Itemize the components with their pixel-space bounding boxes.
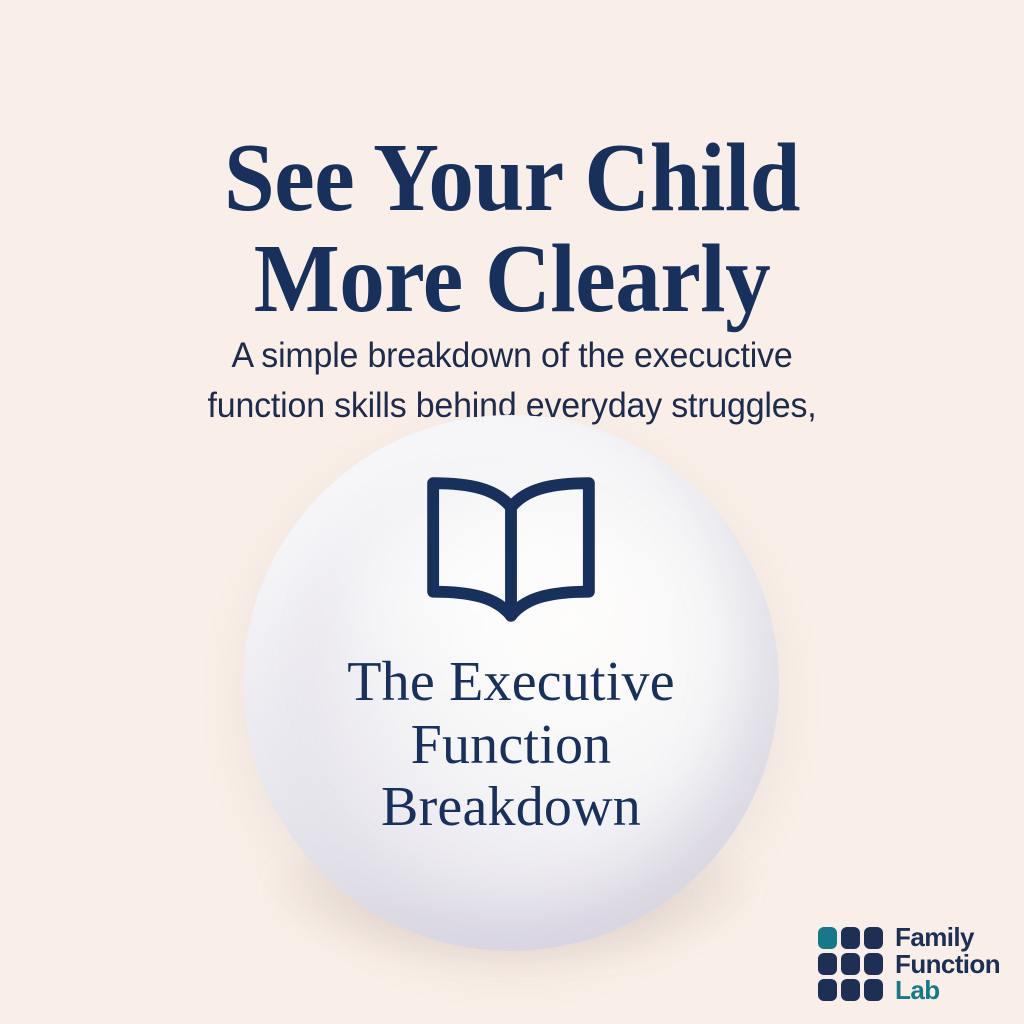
sphere-badge: The Executive Function Breakdown	[243, 415, 779, 951]
sphere-content: The Executive Function Breakdown	[243, 415, 779, 951]
page-title: See Your Child More Clearly	[36, 128, 988, 330]
logo-grid-icon	[818, 927, 883, 1001]
sphere-title: The Executive Function Breakdown	[347, 651, 675, 839]
headline-line-2: More Clearly	[36, 229, 988, 330]
logo-cell-1	[818, 927, 837, 949]
headline-line-1: See Your Child	[36, 128, 988, 229]
logo-cell-7	[818, 979, 837, 1001]
logo-cell-2	[841, 927, 860, 949]
logo-wordmark: Family Function Lab	[895, 924, 1000, 1004]
logo-cell-3	[864, 927, 883, 949]
logo-cell-4	[818, 953, 837, 975]
logo-line-lab: Lab	[895, 977, 1000, 1004]
sphere-title-line-2: Function	[347, 714, 675, 777]
logo-line-family: Family	[895, 924, 1000, 951]
logo-cell-9	[864, 979, 883, 1001]
logo-cell-6	[864, 953, 883, 975]
brand-logo[interactable]: Family Function Lab	[818, 924, 1000, 1004]
logo-cell-8	[841, 979, 860, 1001]
logo-cell-5	[841, 953, 860, 975]
open-book-icon	[417, 473, 605, 625]
sphere-title-line-3: Breakdown	[347, 776, 675, 839]
sphere-title-line-1: The Executive	[347, 651, 675, 714]
logo-line-function: Function	[895, 951, 1000, 978]
subtitle-line-1: A simple breakdown of the execuctive	[15, 331, 1008, 381]
poster-canvas: See Your Child More Clearly A simple bre…	[0, 0, 1024, 1024]
